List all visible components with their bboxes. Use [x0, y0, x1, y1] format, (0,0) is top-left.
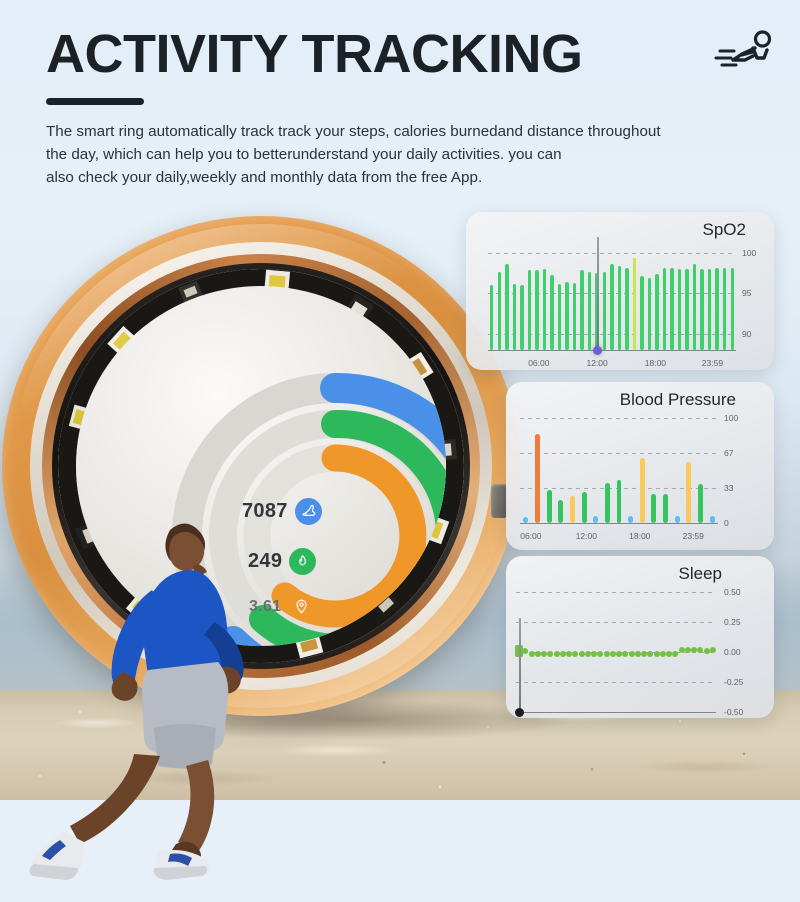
sleep-dot	[585, 651, 591, 657]
sleep-dot	[691, 647, 697, 653]
sleep-dot	[566, 651, 572, 657]
sleep-dot	[654, 651, 660, 657]
spo2-bar	[663, 268, 666, 350]
sleep-dot	[704, 648, 710, 654]
sleep-chart-title: Sleep	[679, 564, 722, 584]
spo2-ytick: 100	[742, 248, 756, 258]
spo2-bar	[565, 282, 568, 350]
sleep-ytick: -0.25	[724, 677, 743, 687]
blood-pressure-plot-area: 0336710006:0012:0018:0023:59	[520, 415, 718, 523]
sleep-dot	[679, 647, 685, 653]
bp-bar	[628, 516, 633, 523]
spo2-gridline	[488, 253, 736, 254]
spo2-bar	[558, 284, 561, 350]
sleep-ytick: 0.50	[724, 587, 741, 597]
bp-xtick: 23:59	[683, 531, 704, 541]
sleep-dot	[641, 651, 647, 657]
chart-card-blood-pressure[interactable]: Blood Pressure 0336710006:0012:0018:0023…	[506, 382, 774, 550]
sleep-cursor-dot	[515, 708, 524, 717]
spo2-plot-area: 909510006:0012:0018:0023:59	[488, 245, 736, 350]
spo2-bar	[543, 269, 546, 350]
bp-gridline	[520, 453, 718, 454]
sleep-dot	[647, 651, 653, 657]
intro-line-1: The smart ring automatically track track…	[46, 120, 771, 143]
flame-icon	[294, 553, 311, 570]
intro-paragraph: The smart ring automatically track track…	[46, 120, 771, 189]
spo2-bar	[573, 283, 576, 350]
intro-line-3: also check your daily,weekly and monthly…	[46, 166, 771, 189]
spo2-xtick: 12:00	[586, 358, 607, 368]
sleep-ytick: 0.00	[724, 647, 741, 657]
metric-steps[interactable]: 7087	[242, 498, 322, 525]
spo2-bar	[528, 270, 531, 350]
sleep-gridline	[516, 592, 716, 593]
sleep-dot	[591, 651, 597, 657]
spo2-bar	[520, 285, 523, 350]
sleep-dot	[685, 647, 691, 653]
bp-bar	[558, 500, 563, 523]
sleep-dot	[622, 651, 628, 657]
bp-bar	[663, 494, 668, 523]
sleep-gridline	[516, 622, 716, 623]
sleep-dot	[554, 651, 560, 657]
bp-bar	[675, 516, 680, 523]
spo2-bar	[700, 269, 703, 350]
distance-value: 3.61	[249, 598, 281, 616]
spo2-xtick: 06:00	[528, 358, 549, 368]
spo2-baseline	[488, 350, 736, 351]
intro-line-2: the day, which can help you to betterund…	[46, 143, 771, 166]
shoe-icon	[300, 503, 317, 520]
sleep-dot	[610, 651, 616, 657]
bp-bar	[535, 434, 540, 523]
spo2-bar	[670, 268, 673, 350]
bp-bar	[547, 490, 552, 523]
spo2-bar	[505, 264, 508, 350]
header: ACTIVITY TRACKING The smart ring automat…	[46, 26, 766, 189]
sleep-dot	[579, 651, 585, 657]
chart-card-spo2[interactable]: SpO2 909510006:0012:0018:0023:59	[466, 212, 774, 370]
distance-arc	[285, 458, 413, 614]
spo2-ytick: 95	[742, 288, 751, 298]
spo2-bar	[708, 269, 711, 350]
sleep-dot	[541, 651, 547, 657]
bp-gridline	[520, 523, 718, 524]
bp-ytick: 0	[724, 518, 729, 528]
sleep-gridline	[516, 682, 716, 683]
spo2-xtick: 18:00	[645, 358, 666, 368]
sleep-dot	[616, 651, 622, 657]
spo2-bar	[550, 275, 553, 350]
steps-badge	[295, 498, 322, 525]
sleep-gridline	[516, 712, 716, 713]
sleep-dot	[529, 651, 535, 657]
spo2-bar	[685, 269, 688, 350]
metric-distance[interactable]: 3.61	[249, 593, 315, 620]
spo2-bar	[535, 270, 538, 350]
sleep-dot	[660, 651, 666, 657]
bp-bar	[698, 484, 703, 523]
calories-badge	[289, 548, 316, 575]
spo2-cursor-line	[597, 237, 599, 350]
distance-badge	[288, 593, 315, 620]
sleep-dot	[672, 651, 678, 657]
spo2-bar	[655, 274, 658, 350]
spo2-cursor-dot	[593, 346, 602, 355]
bp-ytick: 67	[724, 448, 733, 458]
bp-ytick: 33	[724, 483, 733, 493]
smart-ring-device: 7087 249 3.61	[2, 216, 542, 726]
calories-value: 249	[248, 550, 282, 573]
bp-xtick: 18:00	[629, 531, 650, 541]
bp-bar	[710, 516, 715, 523]
spo2-bar	[513, 284, 516, 350]
bp-xtick: 12:00	[576, 531, 597, 541]
sleep-dot	[635, 651, 641, 657]
sleep-ytick: 0.25	[724, 617, 741, 627]
spo2-bar	[603, 272, 606, 350]
spo2-bar	[625, 268, 628, 350]
spo2-bar	[490, 285, 493, 350]
sleep-dot	[572, 651, 578, 657]
sleep-dot	[522, 648, 528, 654]
spo2-bar	[498, 272, 501, 350]
bp-bar	[582, 492, 587, 523]
sleep-cursor-line	[519, 618, 521, 712]
spo2-bar	[731, 268, 734, 350]
running-person-icon	[712, 24, 778, 86]
spo2-bar	[588, 272, 591, 350]
chart-card-sleep[interactable]: Sleep 0.500.250.00-0.25-0.50	[506, 556, 774, 718]
spo2-bar	[618, 266, 621, 350]
spo2-bar	[723, 268, 726, 350]
spo2-bar	[678, 269, 681, 350]
spo2-chart-title: SpO2	[703, 220, 746, 240]
bp-bar	[640, 458, 645, 523]
bp-bar	[605, 483, 610, 523]
spo2-bar	[648, 278, 651, 350]
spo2-ytick: 90	[742, 329, 751, 339]
bp-ytick: 100	[724, 413, 738, 423]
bp-xtick: 06:00	[520, 531, 541, 541]
sleep-plot-area: 0.500.250.00-0.25-0.50	[516, 592, 716, 712]
spo2-xtick: 23:59	[702, 358, 723, 368]
spo2-bar	[693, 264, 696, 350]
spo2-bar	[580, 270, 583, 350]
sleep-dot	[535, 651, 541, 657]
spo2-bar	[610, 264, 613, 350]
sleep-dot	[666, 651, 672, 657]
bp-bar	[593, 516, 598, 523]
sleep-dot	[597, 651, 603, 657]
bp-bar	[617, 480, 622, 523]
metric-calories[interactable]: 249	[248, 548, 316, 575]
runner-photo	[2, 472, 262, 902]
location-icon	[293, 598, 310, 615]
steps-value: 7087	[242, 500, 288, 523]
page-title: ACTIVITY TRACKING	[46, 26, 766, 83]
bp-gridline	[520, 418, 718, 419]
spo2-bar	[633, 258, 636, 350]
sleep-dot	[710, 647, 716, 653]
bp-bar	[686, 462, 691, 523]
sleep-dot	[629, 651, 635, 657]
spo2-bar	[640, 276, 643, 350]
sleep-dot	[560, 651, 566, 657]
sleep-dot	[604, 651, 610, 657]
bp-bar	[570, 496, 575, 523]
title-underline-rule	[46, 98, 144, 105]
sleep-dot	[547, 651, 553, 657]
spo2-bar	[715, 268, 718, 350]
blood-pressure-chart-title: Blood Pressure	[620, 390, 736, 410]
sleep-ytick: -0.50	[724, 707, 743, 717]
bp-bar	[651, 494, 656, 523]
